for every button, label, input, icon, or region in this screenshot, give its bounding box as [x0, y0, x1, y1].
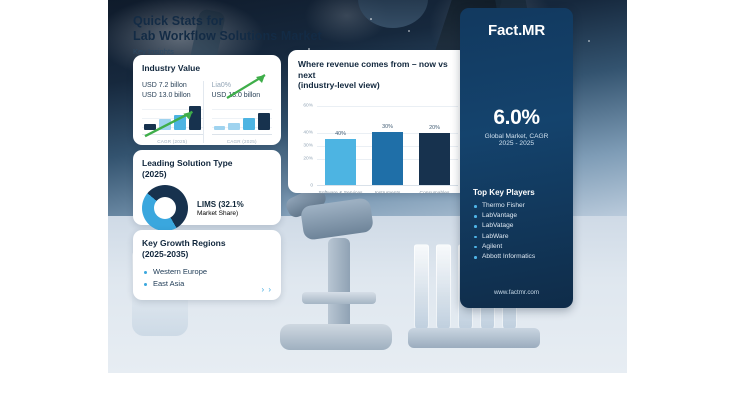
growth-arrow-left-icon: [142, 104, 203, 143]
page-title: Quick Stats for Lab Workflow Solutions M…: [133, 14, 322, 43]
sparkle: [408, 30, 410, 32]
y-tick-label: 60%: [303, 104, 313, 109]
chevron-right-icon[interactable]: › ›: [261, 285, 272, 294]
revenue-source-chart-card: Where revenue comes from – now vs next (…: [288, 50, 468, 193]
donut-legend-label: LIMS (32.1%: [197, 200, 244, 210]
list-item: Agilent: [473, 242, 565, 252]
y-tick-label: 40%: [303, 130, 313, 135]
growth-arrow-right-icon: [225, 71, 273, 101]
y-tick-label: 30%: [303, 143, 313, 148]
sparkline-axis-right: [212, 134, 273, 135]
y-tick-label: 0: [310, 183, 313, 188]
cagr-caption-period: 2025 - 2025: [460, 140, 573, 147]
industry-value-caption-right: CAGR (2025): [212, 139, 273, 144]
x-tick-label: Instruments: [365, 191, 411, 196]
bar[interactable]: [419, 133, 450, 184]
y-axis: 60% 40% 30% 20% 0: [298, 100, 315, 186]
list-item: Abbott Informatics: [473, 252, 565, 262]
industry-value-next: USD 13.0 billon: [142, 91, 203, 101]
bar-chart-plot: 60% 40% 30% 20% 0 40%: [298, 100, 458, 200]
bar[interactable]: [372, 132, 403, 184]
rack-tray: [408, 328, 540, 348]
infographic-canvas: Quick Stats for Lab Workflow Solutions M…: [108, 0, 627, 373]
x-tick-label: Software & Services: [318, 191, 364, 196]
industry-value-current-column: USD 7.2 billon USD 13.0 billon: [142, 81, 203, 143]
cagr-value: 6.0%: [460, 106, 573, 130]
donut-legend-sublabel: Market Share): [197, 210, 244, 217]
industry-value-sparkline-left: CAGR (2025): [142, 104, 203, 143]
bar-group: 30%: [372, 100, 403, 185]
cagr-highlight: 6.0% Global Market, CAGR 2025 - 2025: [460, 106, 573, 147]
microscope-arm: [328, 238, 350, 330]
bar-group: 40%: [325, 100, 356, 185]
cagr-caption-primary: Global Market, CAGR: [460, 133, 573, 140]
test-tube: [414, 244, 429, 332]
leading-solution-type-title: Leading Solution Type (2025): [142, 158, 272, 179]
list-item: East Asia: [142, 278, 272, 290]
plot-area: 40% 30% 20%: [317, 100, 458, 186]
donut-legend: LIMS (32.1% Market Share): [197, 200, 244, 217]
industry-value-sparkline-right: CAGR (2025): [212, 104, 273, 143]
key-growth-regions-card: Key Growth Regions (2025-2035) Western E…: [133, 230, 281, 300]
key-growth-regions-title: Key Growth Regions (2025-2035): [142, 238, 272, 259]
title-line-1: Quick Stats for: [133, 14, 223, 28]
regions-list: Western Europe East Asia: [142, 266, 272, 290]
sparkle: [588, 40, 590, 42]
regions-title-line-2: (2025-2035): [142, 249, 188, 259]
x-axis-labels: Software & Services Instruments Consumab…: [317, 188, 458, 200]
bar-group: 20%: [419, 100, 450, 185]
solution-title-line-2: (2025): [142, 169, 167, 179]
leading-solution-type-card: Leading Solution Type (2025) LIMS (32.1%…: [133, 150, 281, 225]
list-item: Thermo Fisher: [473, 201, 565, 211]
chart-title-line-1: Where revenue comes from – now vs next: [298, 59, 448, 80]
list-item: LabVatage: [473, 221, 565, 231]
industry-value-card: Industry Value USD 7.2 billon USD 13.0 b…: [133, 55, 281, 145]
regions-title-line-1: Key Growth Regions: [142, 238, 226, 248]
y-tick-label: 20%: [303, 157, 313, 162]
bar-series: 40% 30% 20%: [317, 100, 458, 185]
brand-logo: Fact.MR: [460, 22, 573, 39]
x-axis-baseline: [317, 185, 458, 186]
infographic-screenshot: Quick Stats for Lab Workflow Solutions M…: [0, 0, 735, 400]
sparkle: [370, 18, 372, 20]
market-share-donut-chart: [142, 185, 188, 231]
top-key-players-title: Top Key Players: [473, 188, 565, 197]
x-tick-label: Consumables: [412, 191, 458, 196]
background-microscope: [276, 200, 396, 350]
website-url[interactable]: www.factmr.com: [460, 289, 573, 296]
industry-value-now: USD 7.2 billon: [142, 81, 203, 91]
bar[interactable]: [325, 139, 356, 185]
sparkline-bars-right: [214, 104, 271, 130]
microscope-base: [280, 324, 392, 350]
top-key-players-list: Thermo Fisher LabVantage LabVatage LabWa…: [473, 201, 565, 262]
list-item: LabWare: [473, 232, 565, 242]
chart-title-line-2: (industry-level view): [298, 80, 380, 90]
test-tube: [436, 244, 451, 332]
donut-row: LIMS (32.1% Market Share): [142, 185, 272, 231]
chart-title: Where revenue comes from – now vs next (…: [298, 59, 458, 91]
list-item: Western Europe: [142, 266, 272, 278]
microscope-stage: [302, 292, 376, 304]
solution-title-line-1: Leading Solution Type: [142, 158, 233, 168]
bar-value-label: 30%: [372, 124, 403, 130]
bar-value-label: 20%: [419, 125, 450, 131]
list-item: LabVantage: [473, 211, 565, 221]
brand-summary-panel: Fact.MR 6.0% Global Market, CAGR 2025 - …: [460, 8, 573, 308]
top-key-players-block: Top Key Players Thermo Fisher LabVantage…: [473, 188, 565, 262]
industry-value-caption-left: CAGR (2025): [142, 139, 203, 144]
title-line-2: Lab Workflow Solutions Market: [133, 29, 322, 43]
bar-value-label: 40%: [325, 131, 356, 137]
